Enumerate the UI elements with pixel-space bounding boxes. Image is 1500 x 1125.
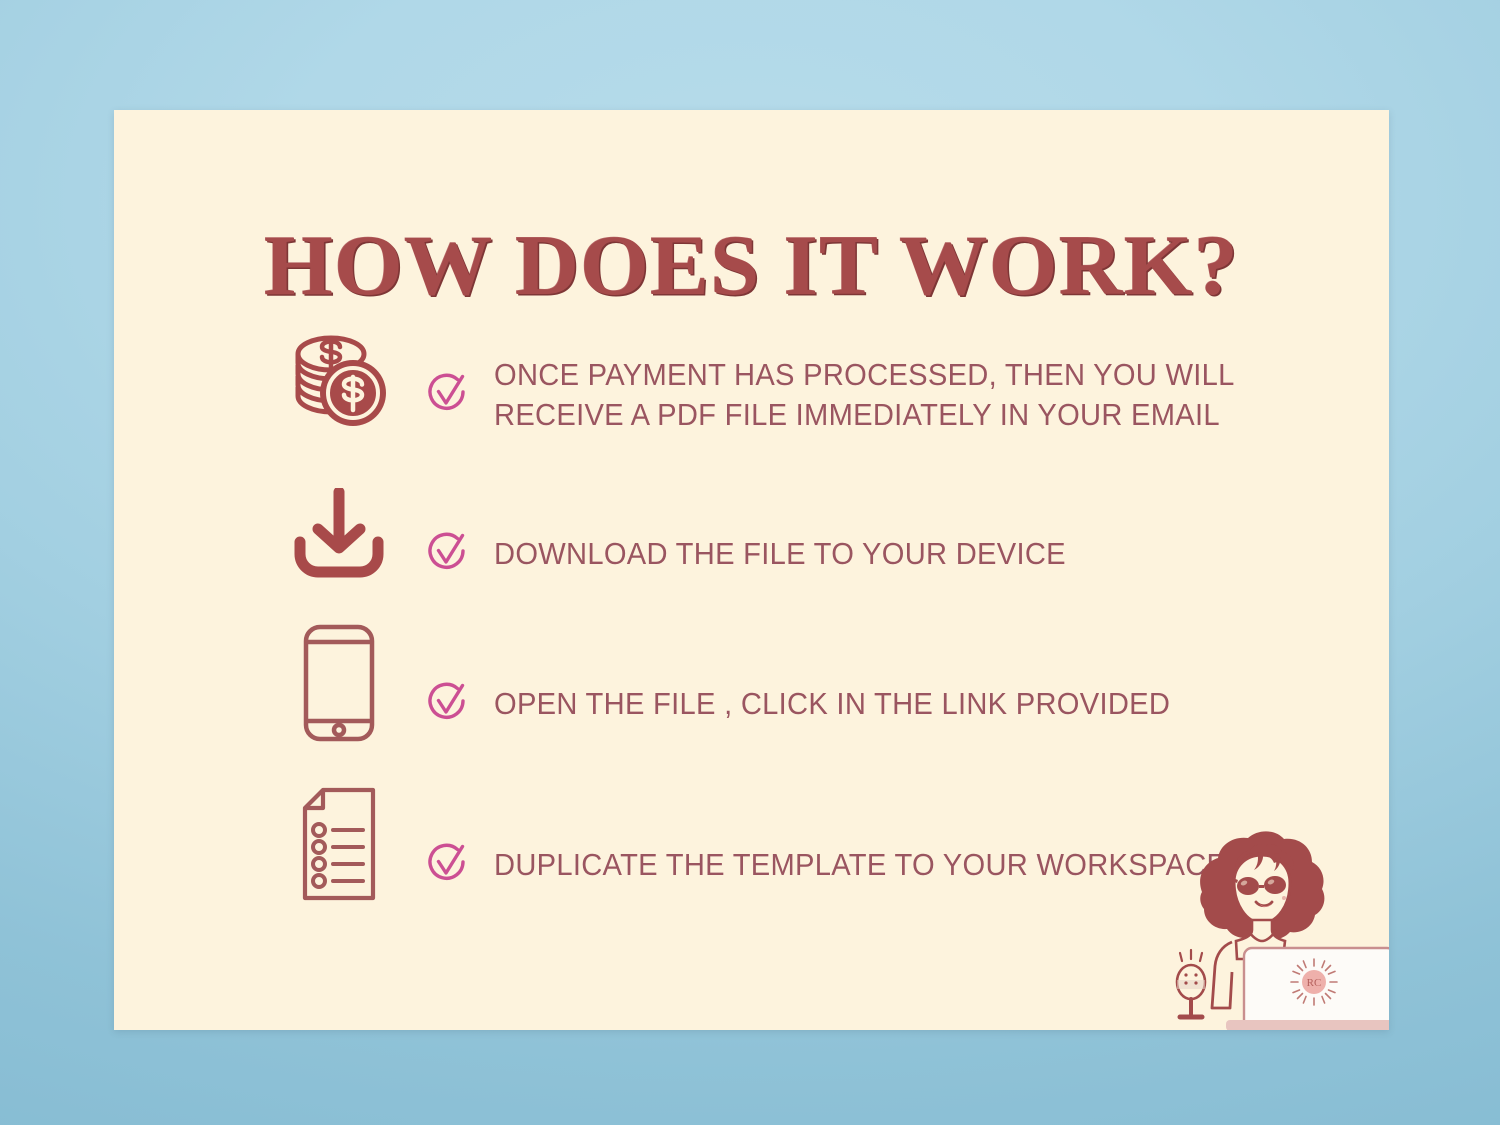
list-item[interactable]: OPEN THE FILE , CLICK IN THE LINK PROVID… (274, 665, 1324, 743)
slide-canvas: HOW DOES IT WORK? (0, 0, 1500, 1125)
check-circle-icon (418, 372, 476, 418)
check-circle-icon (418, 531, 476, 577)
laptop-logo-text: RC (1307, 977, 1322, 989)
document-list-icon (274, 786, 404, 902)
check-circle-icon (418, 681, 476, 727)
page-title: HOW DOES IT WORK? (114, 215, 1389, 315)
download-icon (274, 488, 404, 580)
smartphone-icon (274, 623, 404, 743)
list-item-label: OPEN THE FILE , CLICK IN THE LINK PROVID… (494, 684, 1170, 724)
sun-logo: RC (1291, 959, 1337, 1005)
list-item[interactable]: DUPLICATE THE TEMPLATE TO YOUR WORKSPACE (274, 828, 1324, 902)
list-item[interactable]: DOWNLOAD THE FILE TO YOUR DEVICE (274, 528, 1324, 580)
list-item-label: DOWNLOAD THE FILE TO YOUR DEVICE (494, 534, 1066, 574)
list-item-label: ONCE PAYMENT HAS PROCESSED, THEN YOU WIL… (494, 355, 1235, 436)
microphone-icon (1177, 950, 1205, 1017)
coins-icon (274, 331, 404, 431)
content-card: HOW DOES IT WORK? (114, 110, 1389, 1030)
check-circle-icon (418, 842, 476, 888)
list-item[interactable]: ONCE PAYMENT HAS PROCESSED, THEN YOU WIL… (274, 355, 1324, 436)
laptop (1226, 948, 1389, 1030)
list-item-label: DUPLICATE THE TEMPLATE TO YOUR WORKSPACE (494, 845, 1226, 885)
